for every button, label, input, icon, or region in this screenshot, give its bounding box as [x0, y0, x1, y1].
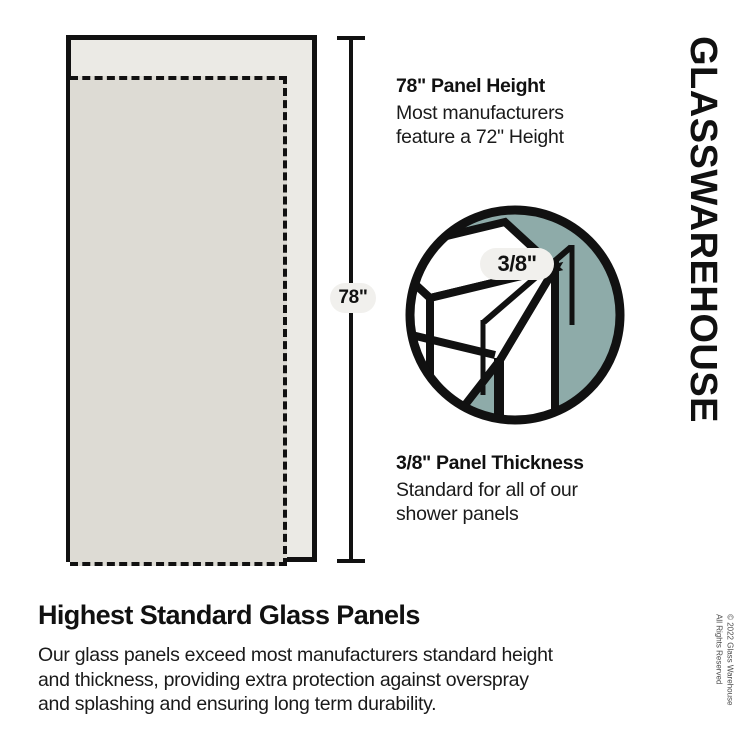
footer-block: Highest Standard Glass Panels Our glass …: [38, 600, 668, 717]
thickness-dimension-label: 3/8": [480, 248, 554, 280]
brand-wordmark: GLASSWAREHOUSE: [673, 18, 733, 448]
copyright-line-1: © 2022 Glass Warehouse: [724, 614, 735, 705]
callout-panel-thickness: 3/8" Panel Thickness Standard for all of…: [396, 452, 666, 526]
dimension-tick-top: [337, 36, 365, 40]
callout-panel-height-line2: feature a 72" Height: [396, 125, 666, 149]
copyright-notice: © 2022 Glass Warehouse All Rights Reserv…: [664, 595, 755, 725]
callout-panel-thickness-line2: shower panels: [396, 502, 666, 526]
footer-heading: Highest Standard Glass Panels: [38, 600, 668, 631]
brand-wordmark-text: GLASSWAREHOUSE: [682, 36, 725, 423]
footer-body-line1: Our glass panels exceed most manufacture…: [38, 643, 668, 668]
footer-body-line3: and splashing and ensuring long term dur…: [38, 692, 668, 717]
thickness-isometric-svg: [400, 200, 630, 430]
panel-thickness-illustration: [400, 200, 630, 430]
callout-panel-thickness-line1: Standard for all of our: [396, 478, 666, 502]
footer-body-line2: and thickness, providing extra protectio…: [38, 668, 668, 693]
infographic-root: 78" 78" Panel Height Most manufacturers …: [0, 0, 755, 755]
dimension-tick-bottom: [337, 559, 365, 563]
standard-height-dashed-outline: [70, 76, 287, 566]
height-dimension-label: 78": [330, 283, 376, 313]
callout-panel-height: 78" Panel Height Most manufacturers feat…: [396, 75, 666, 149]
callout-panel-height-line1: Most manufacturers: [396, 101, 666, 125]
glass-panel-diagram: [66, 35, 317, 562]
callout-panel-height-title: 78" Panel Height: [396, 75, 666, 99]
callout-panel-thickness-title: 3/8" Panel Thickness: [396, 452, 666, 476]
copyright-line-2: All Rights Reserved: [713, 614, 724, 705]
